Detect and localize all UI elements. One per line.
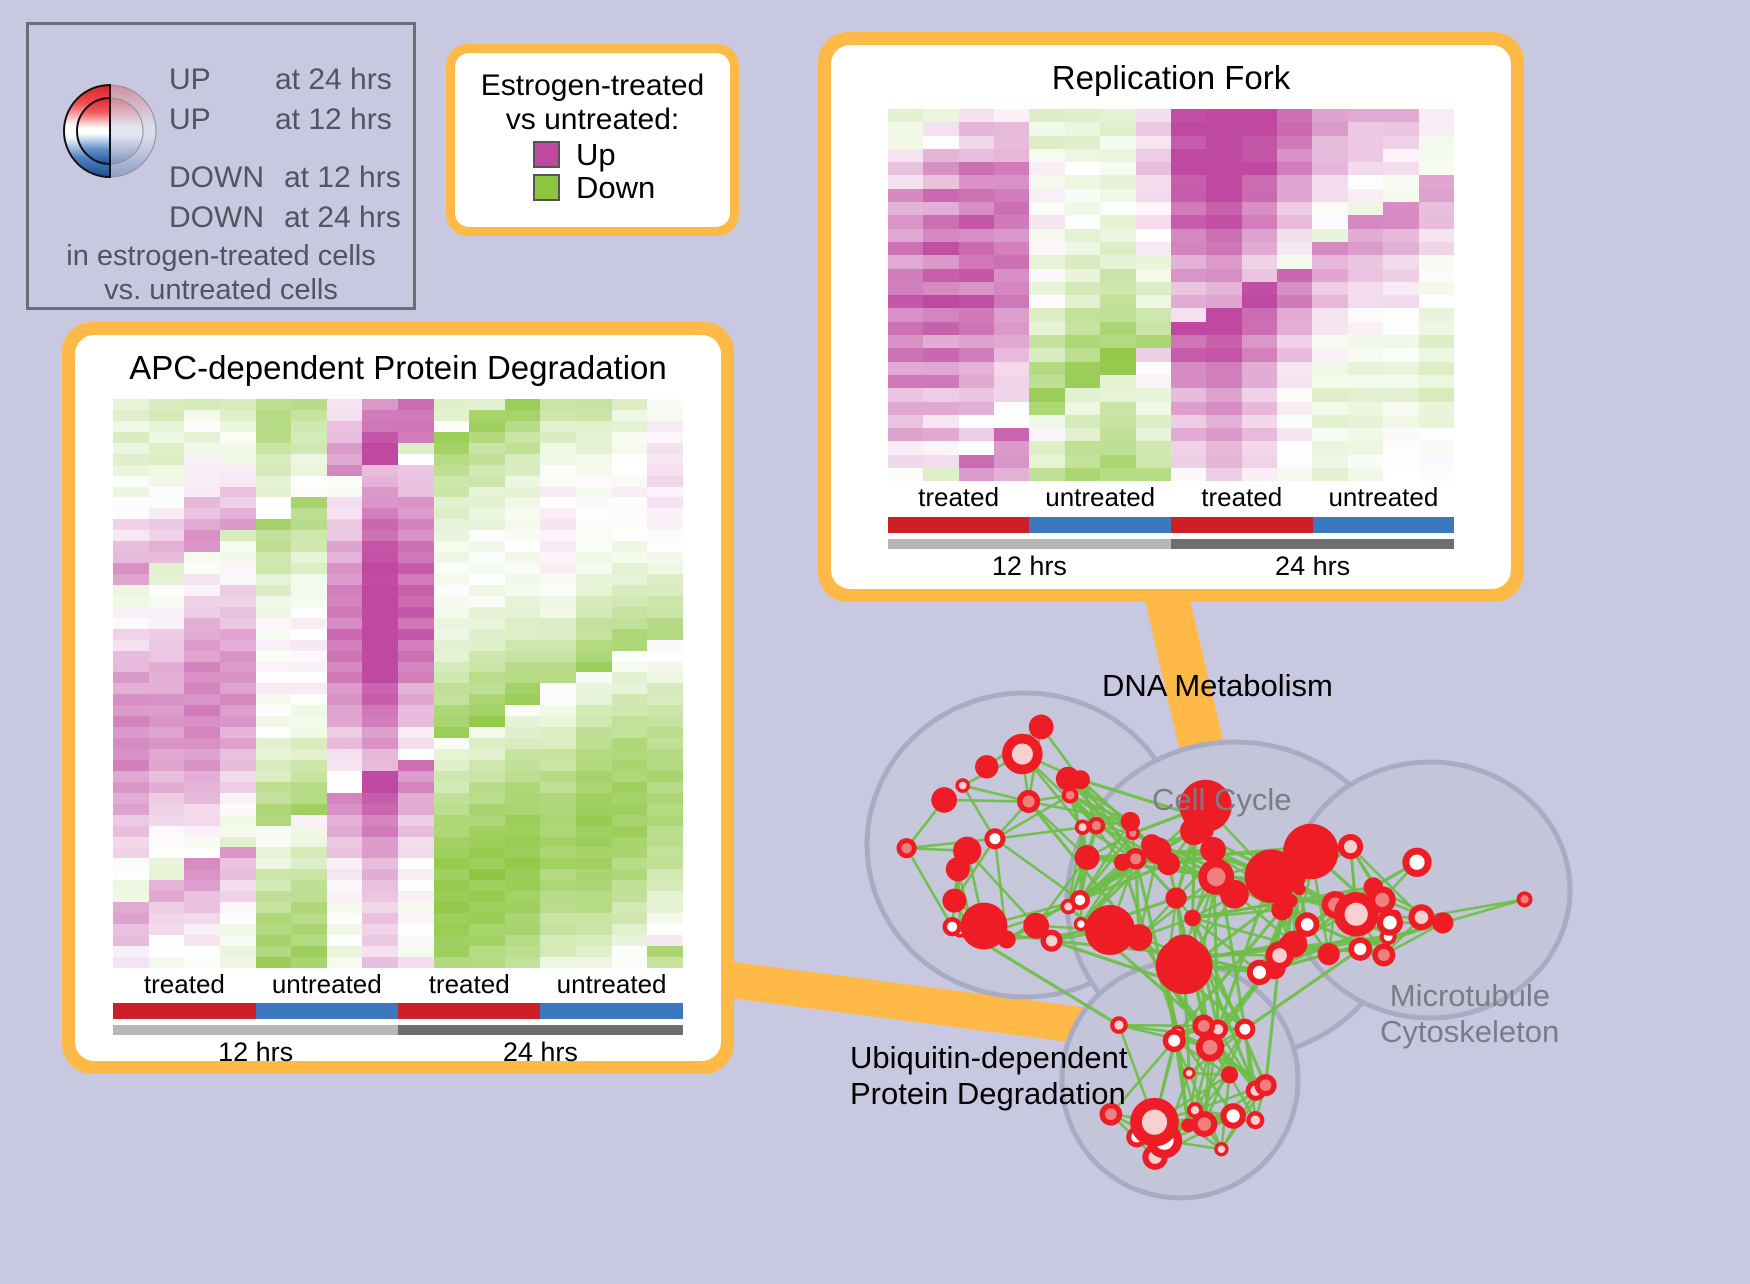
- group-label-3: untreated: [1313, 481, 1455, 514]
- heat-cell: [1029, 202, 1064, 215]
- heat-cell: [888, 308, 923, 321]
- heat-cell: [1065, 375, 1100, 388]
- heat-cell: [1171, 415, 1206, 428]
- heat-cell: [612, 869, 648, 880]
- heat-cell: [923, 242, 958, 255]
- heat-cell: [505, 640, 541, 651]
- network-node[interactable]: [1056, 767, 1080, 791]
- group-label-2: treated: [1171, 481, 1313, 514]
- heat-cell: [256, 585, 292, 596]
- heat-cell: [327, 924, 363, 935]
- heat-cell: [1136, 149, 1171, 162]
- network-node[interactable]: [1075, 845, 1100, 870]
- heat-cell: [1171, 428, 1206, 441]
- network-node[interactable]: [961, 903, 1008, 950]
- heat-cell: [1029, 282, 1064, 295]
- network-node[interactable]: [1085, 905, 1135, 955]
- heat-cell: [327, 574, 363, 585]
- heat-cell: [291, 771, 327, 782]
- heat-cell: [923, 322, 958, 335]
- heat-cell: [1383, 242, 1418, 255]
- heat-cell: [612, 607, 648, 618]
- heat-cell: [398, 465, 434, 476]
- network-node[interactable]: [1200, 837, 1226, 863]
- heat-cell: [434, 487, 470, 498]
- heat-cell: [434, 847, 470, 858]
- heat-cell: [1100, 402, 1135, 415]
- heat-cell: [923, 136, 958, 149]
- heat-cell: [362, 640, 398, 651]
- heat-cell: [434, 869, 470, 880]
- heat-cell: [291, 880, 327, 891]
- network-node-core: [1344, 840, 1357, 853]
- heat-cell: [1348, 322, 1383, 335]
- heat-cell: [612, 749, 648, 760]
- network-node-core: [1354, 943, 1366, 955]
- heat-cell: [256, 596, 292, 607]
- heat-cell: [398, 924, 434, 935]
- heat-cell: [1419, 362, 1454, 375]
- heat-cell: [505, 563, 541, 574]
- network-node[interactable]: [1156, 937, 1213, 994]
- heat-cell: [149, 869, 185, 880]
- heat-cell: [576, 465, 612, 476]
- heat-cell: [1242, 109, 1277, 122]
- heat-cell: [398, 662, 434, 673]
- heat-cell: [362, 443, 398, 454]
- heat-cell: [220, 574, 256, 585]
- heat-cell: [291, 738, 327, 749]
- heat-cell: [647, 716, 683, 727]
- heat-cell: [1348, 255, 1383, 268]
- heat-cell: [576, 508, 612, 519]
- heat-cell: [540, 946, 576, 957]
- heat-cell: [1277, 255, 1312, 268]
- heat-cell: [291, 804, 327, 815]
- heat-cell: [184, 454, 220, 465]
- heat-cell: [540, 410, 576, 421]
- heat-cell: [1100, 162, 1135, 175]
- heat-cell: [291, 924, 327, 935]
- heat-cell: [959, 162, 994, 175]
- heat-cell: [540, 651, 576, 662]
- heat-cell: [540, 826, 576, 837]
- heat-cell: [505, 476, 541, 487]
- heat-cell: [398, 705, 434, 716]
- heat-cell: [291, 694, 327, 705]
- network-node[interactable]: [975, 755, 998, 778]
- heat-cell: [398, 716, 434, 727]
- heat-cell: [505, 574, 541, 585]
- heat-cell: [327, 640, 363, 651]
- heat-cell: [469, 541, 505, 552]
- heat-cell: [113, 946, 149, 957]
- heat-cell: [505, 651, 541, 662]
- heat-cell: [612, 596, 648, 607]
- heat-cell: [1312, 402, 1347, 415]
- network-node[interactable]: [931, 787, 957, 813]
- heat-cell: [1136, 229, 1171, 242]
- heat-cell: [1419, 428, 1454, 441]
- heat-cell: [1136, 388, 1171, 401]
- heat-cell: [327, 399, 363, 410]
- heat-cell: [291, 454, 327, 465]
- heat-cell: [362, 716, 398, 727]
- heat-cell: [434, 530, 470, 541]
- heat-cell: [362, 858, 398, 869]
- heat-cell: [994, 388, 1029, 401]
- heat-cell: [184, 847, 220, 858]
- heat-cell: [469, 716, 505, 727]
- heat-cell: [149, 847, 185, 858]
- heat-cell: [256, 760, 292, 771]
- heat-cell: [1277, 136, 1312, 149]
- heat-cell: [1419, 122, 1454, 135]
- heat-cell: [1136, 308, 1171, 321]
- heat-cell: [540, 640, 576, 651]
- heat-cell: [1242, 149, 1277, 162]
- heat-cell: [1312, 229, 1347, 242]
- heat-cell: [647, 618, 683, 629]
- group-label-0: treated: [113, 968, 255, 1001]
- heat-cell: [184, 760, 220, 771]
- cluster-label-microtubule-line2: Cytoskeleton: [1380, 1014, 1550, 1050]
- heat-cell: [1029, 335, 1064, 348]
- heat-cell: [149, 476, 185, 487]
- heat-cell: [612, 443, 648, 454]
- heat-cell: [505, 585, 541, 596]
- heat-cell: [184, 421, 220, 432]
- network-node[interactable]: [1184, 910, 1201, 927]
- heat-cell: [1171, 122, 1206, 135]
- heat-cell: [149, 858, 185, 869]
- heat-cell: [469, 563, 505, 574]
- network-node-core: [1239, 1024, 1250, 1035]
- heat-cell: [647, 530, 683, 541]
- heat-cell: [959, 202, 994, 215]
- heat-cell: [923, 415, 958, 428]
- heat-cell: [220, 749, 256, 760]
- heat-cell: [505, 749, 541, 760]
- heat-cell: [1277, 162, 1312, 175]
- heat-cell: [256, 421, 292, 432]
- network-node-core: [959, 782, 967, 790]
- heat-cell: [434, 694, 470, 705]
- heat-cell: [505, 454, 541, 465]
- time-label-12hrs: 12 hrs: [888, 551, 1171, 582]
- heat-cell: [1029, 441, 1064, 454]
- heat-cell: [327, 716, 363, 727]
- heat-cell: [398, 585, 434, 596]
- network-node[interactable]: [1121, 812, 1140, 831]
- heat-cell: [220, 465, 256, 476]
- heat-cell: [576, 858, 612, 869]
- heat-cell: [362, 793, 398, 804]
- heat-cell: [327, 508, 363, 519]
- heat-cell: [362, 826, 398, 837]
- heat-cell: [1100, 295, 1135, 308]
- heat-cell: [469, 694, 505, 705]
- heat-cell: [959, 375, 994, 388]
- heat-cell: [149, 443, 185, 454]
- heat-cell: [923, 282, 958, 295]
- heat-cell: [959, 322, 994, 335]
- heat-cell: [647, 497, 683, 508]
- up-swatch-icon: [533, 141, 560, 168]
- heat-cell: [362, 519, 398, 530]
- heat-cell: [149, 629, 185, 640]
- heat-cell: [398, 957, 434, 968]
- heat-cell: [469, 880, 505, 891]
- heat-cell: [1242, 229, 1277, 242]
- legend-caption-line2: vs. untreated cells: [29, 273, 413, 307]
- heat-cell: [505, 957, 541, 968]
- heat-cell: [647, 924, 683, 935]
- heat-cell: [505, 727, 541, 738]
- heat-cell: [362, 541, 398, 552]
- heat-cell: [612, 902, 648, 913]
- heat-cell: [1029, 109, 1064, 122]
- network-node-core: [901, 843, 911, 853]
- heat-cell: [540, 530, 576, 541]
- heat-cell: [149, 891, 185, 902]
- heat-cell: [149, 902, 185, 913]
- heat-cell: [1348, 215, 1383, 228]
- heat-cell: [256, 935, 292, 946]
- heat-cell: [327, 519, 363, 530]
- heat-cell: [398, 508, 434, 519]
- heat-cell: [113, 410, 149, 421]
- heat-cell: [888, 162, 923, 175]
- heat-cell: [327, 782, 363, 793]
- network-node[interactable]: [1432, 912, 1453, 933]
- key-entry-down: Down: [533, 172, 730, 203]
- heat-cell: [220, 476, 256, 487]
- heat-cell: [505, 662, 541, 673]
- heat-cell: [612, 716, 648, 727]
- heat-cell: [184, 443, 220, 454]
- heat-cell: [1065, 295, 1100, 308]
- heat-cell: [327, 476, 363, 487]
- heat-cell: [1242, 335, 1277, 348]
- network-node-core: [1075, 895, 1085, 905]
- heat-cell: [1277, 362, 1312, 375]
- up-down-colour-key: Estrogen-treated vs untreated: Up Down: [446, 44, 739, 236]
- heat-cell: [149, 957, 185, 968]
- heat-cell: [540, 924, 576, 935]
- heat-cell: [1242, 402, 1277, 415]
- network-node[interactable]: [1221, 1066, 1238, 1083]
- heat-cell: [576, 421, 612, 432]
- network-node[interactable]: [942, 889, 966, 913]
- heat-cell: [327, 421, 363, 432]
- heat-cell: [1029, 348, 1064, 361]
- heat-cell: [1383, 335, 1418, 348]
- heat-cell: [149, 519, 185, 530]
- heat-cell: [434, 858, 470, 869]
- heat-cell: [113, 607, 149, 618]
- heat-cell: [1419, 415, 1454, 428]
- heat-cell: [184, 487, 220, 498]
- heat-cell: [434, 607, 470, 618]
- network-node-core: [1415, 910, 1429, 924]
- heat-cell: [434, 727, 470, 738]
- heat-cell: [1419, 269, 1454, 282]
- heat-cell: [505, 552, 541, 563]
- heat-cell: [612, 508, 648, 519]
- heat-cell: [220, 924, 256, 935]
- sample-annotation-apc: treated untreated treated untreated 12 h: [113, 968, 683, 1069]
- heat-cell: [149, 705, 185, 716]
- heat-cell: [647, 694, 683, 705]
- heat-cell: [1419, 455, 1454, 468]
- heat-cell: [1136, 242, 1171, 255]
- heat-cell: [1348, 335, 1383, 348]
- network-node-core: [1046, 935, 1058, 947]
- heat-cell: [184, 957, 220, 968]
- heat-cell: [576, 869, 612, 880]
- heat-cell: [434, 563, 470, 574]
- heat-cell: [184, 804, 220, 815]
- heat-cell: [469, 552, 505, 563]
- heat-cell: [113, 651, 149, 662]
- heat-cell: [994, 162, 1029, 175]
- heat-cell: [184, 497, 220, 508]
- network-node[interactable]: [1165, 887, 1186, 908]
- heat-cell: [923, 362, 958, 375]
- heat-cell: [1206, 335, 1241, 348]
- heat-cell: [923, 402, 958, 415]
- heat-cell: [1312, 362, 1347, 375]
- heat-cell: [612, 826, 648, 837]
- heat-cell: [469, 782, 505, 793]
- heat-cell: [434, 716, 470, 727]
- heat-cell: [256, 487, 292, 498]
- heat-cell: [1065, 149, 1100, 162]
- heat-cell: [576, 585, 612, 596]
- heat-cell: [1206, 202, 1241, 215]
- heat-cell: [220, 672, 256, 683]
- heat-cell: [612, 771, 648, 782]
- heat-cell: [1348, 348, 1383, 361]
- network-node[interactable]: [1283, 824, 1338, 879]
- heat-cell: [291, 869, 327, 880]
- network-node[interactable]: [1023, 913, 1049, 939]
- heat-cell: [1100, 348, 1135, 361]
- heat-cell: [647, 432, 683, 443]
- heat-cell: [398, 596, 434, 607]
- heat-cell: [540, 662, 576, 673]
- heat-cell: [362, 837, 398, 848]
- heat-cell: [113, 672, 149, 683]
- heat-cell: [1065, 215, 1100, 228]
- heat-cell: [505, 869, 541, 880]
- heat-cell: [888, 335, 923, 348]
- heat-cell: [612, 552, 648, 563]
- heat-cell: [256, 618, 292, 629]
- heat-cell: [540, 541, 576, 552]
- heat-cell: [434, 826, 470, 837]
- heat-cell: [540, 782, 576, 793]
- heat-cell: [220, 716, 256, 727]
- heat-cell: [398, 782, 434, 793]
- heat-cell: [1206, 175, 1241, 188]
- heat-cell: [1383, 282, 1418, 295]
- heat-cell: [1206, 375, 1241, 388]
- heat-cell: [959, 362, 994, 375]
- network-node-core: [1114, 1020, 1123, 1029]
- heat-cell: [398, 858, 434, 869]
- heat-cell: [1136, 122, 1171, 135]
- network-node-core: [1301, 918, 1314, 931]
- heat-cell: [576, 596, 612, 607]
- heat-cell: [113, 640, 149, 651]
- network-node[interactable]: [953, 837, 981, 865]
- heat-cell: [256, 826, 292, 837]
- heat-cell: [362, 815, 398, 826]
- heat-cell: [1065, 242, 1100, 255]
- heat-cell: [1242, 255, 1277, 268]
- network-node[interactable]: [1318, 943, 1340, 965]
- heat-cell: [113, 771, 149, 782]
- heat-cell: [184, 432, 220, 443]
- heat-cell: [220, 902, 256, 913]
- heat-cell: [505, 760, 541, 771]
- heat-cell: [647, 891, 683, 902]
- key-label-down: Down: [576, 172, 655, 203]
- heat-cell: [434, 837, 470, 848]
- network-node[interactable]: [1029, 715, 1054, 740]
- heat-cell: [469, 924, 505, 935]
- heat-cell: [612, 782, 648, 793]
- heat-cell: [923, 162, 958, 175]
- heat-cell: [888, 109, 923, 122]
- heat-cell: [994, 202, 1029, 215]
- heat-cell: [576, 552, 612, 563]
- heat-cell: [1171, 362, 1206, 375]
- heat-cell: [220, 815, 256, 826]
- heat-cell: [327, 552, 363, 563]
- heat-cell: [1419, 242, 1454, 255]
- cluster-label-ubiquitin-line2: Protein Degradation: [850, 1076, 1128, 1112]
- heat-cell: [220, 585, 256, 596]
- heat-cell: [888, 136, 923, 149]
- heat-cell: [220, 399, 256, 410]
- heat-cell: [612, 946, 648, 957]
- heat-cell: [220, 858, 256, 869]
- heat-cell: [1277, 229, 1312, 242]
- heat-cell: [647, 880, 683, 891]
- heat-cell: [113, 793, 149, 804]
- heat-cell: [291, 672, 327, 683]
- heat-cell: [994, 109, 1029, 122]
- heat-cell: [1348, 229, 1383, 242]
- network-node[interactable]: [1145, 837, 1172, 864]
- heat-cell: [434, 880, 470, 891]
- heat-cell: [256, 782, 292, 793]
- heat-cell: [647, 705, 683, 716]
- heat-cell: [184, 662, 220, 673]
- heat-cell: [1312, 136, 1347, 149]
- heat-cell: [1419, 136, 1454, 149]
- heat-cell: [149, 837, 185, 848]
- heat-cell: [113, 880, 149, 891]
- heat-cell: [434, 618, 470, 629]
- heat-cell: [1419, 468, 1454, 481]
- heat-cell: [1348, 189, 1383, 202]
- heat-cell: [149, 760, 185, 771]
- heat-cell: [505, 596, 541, 607]
